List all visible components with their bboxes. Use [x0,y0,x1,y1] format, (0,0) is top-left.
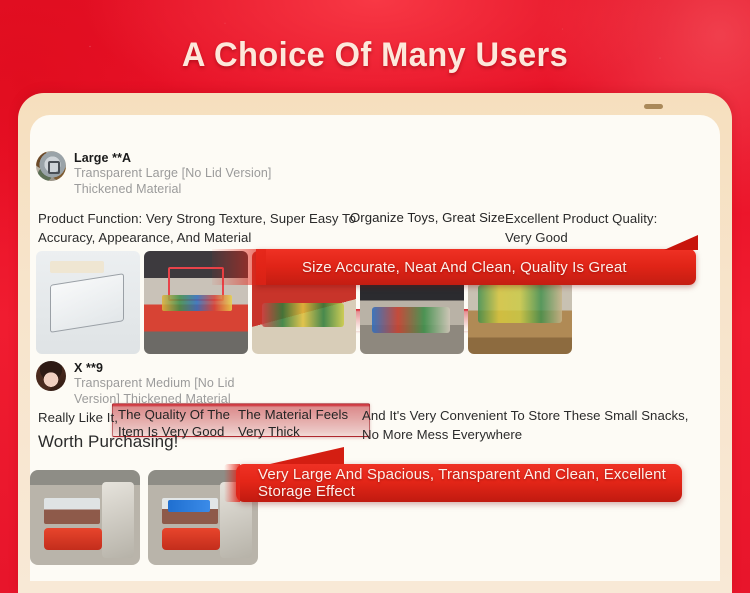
review-body-part2: And It's Very Convenient To Store These … [362,406,692,444]
decor [44,528,102,550]
decor [102,482,134,558]
banner-tail-icon [260,447,344,464]
reviews-panel: Large **A Transparent Large [No Lid Vers… [30,115,720,581]
reviewer-name: X **9 [74,361,274,375]
product-variant: Transparent Large [No Lid Version] Thick… [74,165,274,197]
callout-banner-bottom-text: Very Large And Spacious, Transparent And… [258,466,682,500]
reviewer-name: Large **A [74,151,274,165]
decor [168,500,210,512]
review-body-text-1: Product Function: Very Strong Texture, S… [38,211,356,226]
decor [44,498,100,524]
highlight-text-quality: The Quality Of The Item Is Very Good [118,406,236,440]
review-header: Large **A Transparent Large [No Lid Vers… [36,151,274,197]
thumbnail-image[interactable]: mm nnnnn [36,251,140,354]
thumbnail-image[interactable] [30,470,140,565]
banner-tail-icon [664,235,698,250]
review-body-part1: Really Like It, [38,408,118,427]
decor [162,528,220,550]
avatar [36,151,66,181]
callout-banner-top-text: Size Accurate, Neat And Clean, Quality I… [302,259,627,276]
card-notch-icon [644,104,663,109]
callout-banner-top: Size Accurate, Neat And Clean, Quality I… [256,249,696,285]
callout-banner-bottom: Very Large And Spacious, Transparent And… [236,464,682,502]
decor [478,285,562,323]
page-title: A Choice Of Many Users [15,36,735,75]
decor [372,307,450,333]
decor [262,303,344,327]
banner-fade-edge [224,464,240,502]
decor [162,295,232,311]
review-header: X **9 Transparent Medium [No Lid Version… [36,361,274,407]
avatar [36,361,66,391]
review-body-line2: Accuracy, Appearance, And Material [38,228,368,247]
thumbnail-caption: mm nnnnn [53,262,79,268]
inline-highlight-text: Organize Toys, Great Size [350,209,530,227]
highlight-text-material: The Material Feels Very Thick [238,406,358,440]
review-body-part1: Product Function: Very Strong Texture, S… [38,209,358,228]
